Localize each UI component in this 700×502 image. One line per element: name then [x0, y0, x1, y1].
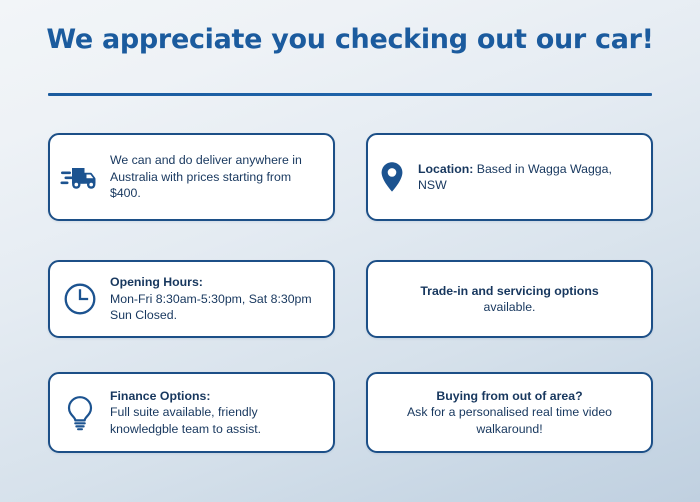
card-opening-hours-label: Opening Hours:: [110, 275, 203, 289]
lightbulb-icon: [50, 395, 110, 431]
card-trade-in-text: Trade-in and servicing options available…: [410, 283, 608, 316]
card-out-of-area-label: Buying from out of area?: [378, 388, 641, 405]
card-opening-hours: Opening Hours: Mon-Fri 8:30am-5:30pm, Sa…: [48, 260, 335, 338]
card-finance-text: Finance Options: Full suite available, f…: [110, 388, 333, 438]
map-pin-icon: [368, 161, 416, 193]
card-out-of-area-body: Ask for a personalised real time video w…: [407, 405, 612, 436]
header-divider: [48, 93, 652, 96]
card-trade-in: Trade-in and servicing options available…: [366, 260, 653, 338]
card-out-of-area-text: Buying from out of area? Ask for a perso…: [368, 388, 651, 438]
delivery-truck-icon: [50, 162, 110, 192]
card-location: Location: Based in Wagga Wagga, NSW: [366, 133, 653, 221]
card-trade-in-body: available.: [484, 300, 536, 314]
card-finance: Finance Options: Full suite available, f…: [48, 372, 335, 453]
page-title: We appreciate you checking out our car!: [0, 24, 700, 55]
card-trade-in-label: Trade-in and servicing options: [420, 283, 598, 300]
card-out-of-area: Buying from out of area? Ask for a perso…: [366, 372, 653, 453]
card-location-text: Location: Based in Wagga Wagga, NSW: [416, 161, 651, 194]
card-finance-label: Finance Options:: [110, 389, 210, 403]
promo-panel: We appreciate you checking out our car!: [0, 0, 700, 502]
card-delivery-body: We can and do deliver anywhere in Austra…: [110, 153, 302, 200]
card-opening-hours-text: Opening Hours: Mon-Fri 8:30am-5:30pm, Sa…: [110, 274, 333, 324]
clock-icon: [50, 282, 110, 316]
card-finance-body: Full suite available, friendly knowledgb…: [110, 405, 261, 436]
card-delivery-text: We can and do deliver anywhere in Austra…: [110, 152, 333, 202]
card-delivery: We can and do deliver anywhere in Austra…: [48, 133, 335, 221]
card-location-label: Location:: [418, 162, 473, 176]
card-opening-hours-body: Mon-Fri 8:30am-5:30pm, Sat 8:30pm Sun Cl…: [110, 292, 312, 323]
